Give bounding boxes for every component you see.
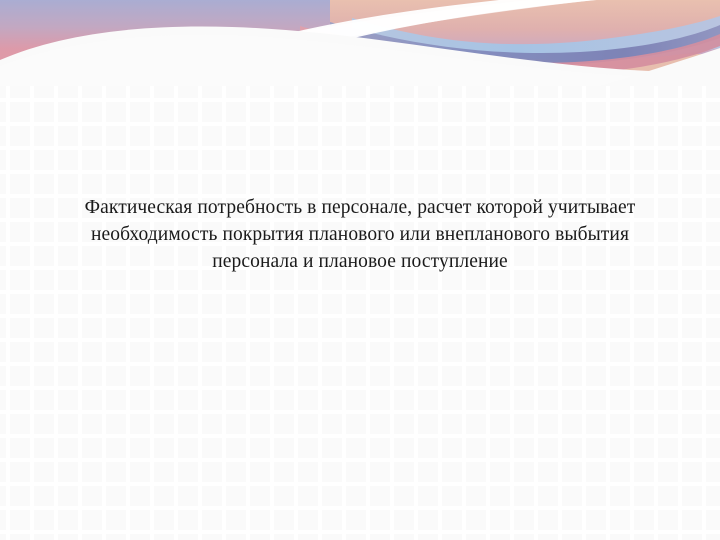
wave-white-ribbon-upper-soft — [236, 0, 612, 56]
wave-left-field — [0, 0, 330, 70]
slide-canvas: Фактическая потребность в персонале, рас… — [0, 0, 720, 540]
wave-sky-band — [352, 16, 720, 60]
header-wave-banner — [0, 0, 720, 86]
wave-white-body — [0, 26, 720, 86]
slide-body-text: Фактическая потребность в персонале, рас… — [50, 194, 670, 275]
wave-indigo-band — [330, 22, 720, 65]
wave-rose-band — [300, 26, 720, 75]
wave-right-field — [330, 0, 720, 54]
wave-right-white-wedge — [600, 48, 720, 86]
wave-base-strip — [0, 0, 720, 86]
wave-white-veil — [0, 34, 720, 86]
wave-white-ribbon-upper — [262, 0, 640, 52]
